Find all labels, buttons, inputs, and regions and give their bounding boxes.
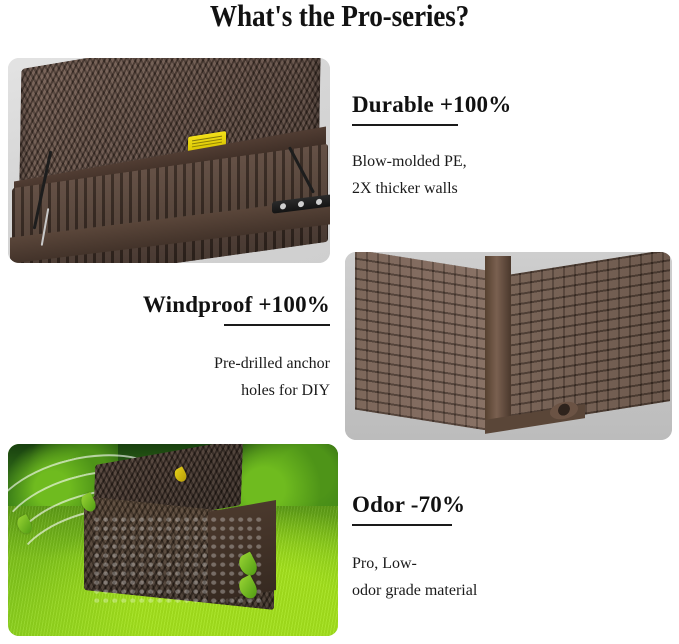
- feature-text-durable: Durable +100% Blow-molded PE, 2X thicker…: [352, 92, 652, 202]
- feature-image-durable: [8, 58, 330, 263]
- rattan-panel-right: [508, 252, 670, 427]
- hinge-bolt: [280, 203, 286, 210]
- heading-underline: [352, 524, 452, 526]
- corner-post: [485, 256, 511, 428]
- feature-text-windproof: Windproof +100% Pre-drilled anchor holes…: [30, 292, 330, 404]
- feature-body-line: holes for DIY: [30, 377, 330, 404]
- infographic-page: What's the Pro-series? Durable +100% Blo…: [0, 0, 679, 644]
- feature-image-odor: [8, 444, 338, 636]
- hinge-bolt: [298, 201, 304, 208]
- feature-body-odor: Pro, Low- odor grade material: [352, 550, 652, 604]
- feature-body-line: Pre-drilled anchor: [30, 350, 330, 377]
- feature-body-line: Blow-molded PE,: [352, 148, 652, 175]
- feature-heading-odor: Odor -70%: [352, 492, 652, 518]
- feature-body-windproof: Pre-drilled anchor holes for DIY: [30, 350, 330, 404]
- feature-body-line: 2X thicker walls: [352, 175, 652, 202]
- feature-body-line: odor grade material: [352, 577, 652, 604]
- page-title: What's the Pro-series?: [41, 0, 639, 34]
- feature-heading-windproof: Windproof +100%: [30, 292, 330, 318]
- feature-text-odor: Odor -70% Pro, Low- odor grade material: [352, 492, 652, 604]
- heading-underline: [352, 124, 458, 126]
- feature-image-windproof: [345, 252, 672, 440]
- heading-underline: [224, 324, 330, 326]
- feature-body-durable: Blow-molded PE, 2X thicker walls: [352, 148, 652, 202]
- feature-heading-durable: Durable +100%: [352, 92, 652, 118]
- rattan-panel-left: [355, 252, 487, 430]
- feature-body-line: Pro, Low-: [352, 550, 652, 577]
- hinge-bolt: [316, 199, 322, 206]
